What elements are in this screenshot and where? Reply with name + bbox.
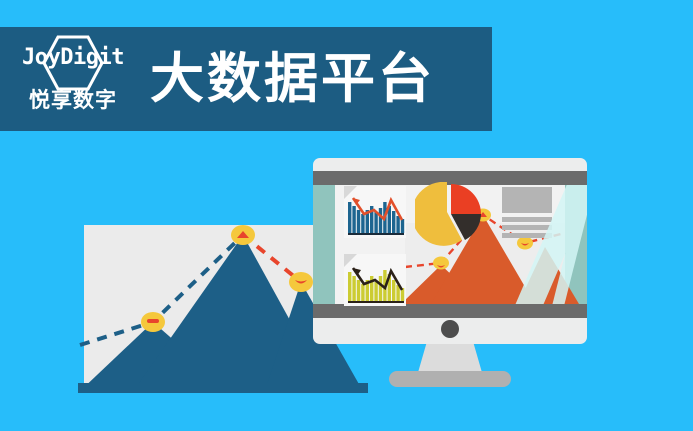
pie-slice-red [451,184,481,214]
bar-chart-blue-card [344,186,406,238]
monitor-bezel-bottom [313,304,587,318]
document-preview-line [502,225,552,230]
monitor-power-indicator [441,320,459,338]
bar-chart-olive [344,254,406,306]
pie-chart [415,182,485,248]
page-title: 大数据平台 [150,52,435,106]
logo-subtitle: 悦享数字 [14,89,132,112]
document-preview-line [502,233,552,238]
banner-canvas: JoyDigit 悦享数字 大数据平台 [0,0,693,431]
bar-chart-olive-card [344,254,406,306]
logo: JoyDigit 悦享数字 [14,33,132,125]
header-band: JoyDigit 悦享数字 大数据平台 [0,27,492,131]
bar-chart-blue [344,186,406,238]
logo-wordmark: JoyDigit [14,47,132,69]
document-preview-header [502,187,552,213]
document-preview-line [502,217,552,222]
monitor-stand-base [389,371,511,387]
